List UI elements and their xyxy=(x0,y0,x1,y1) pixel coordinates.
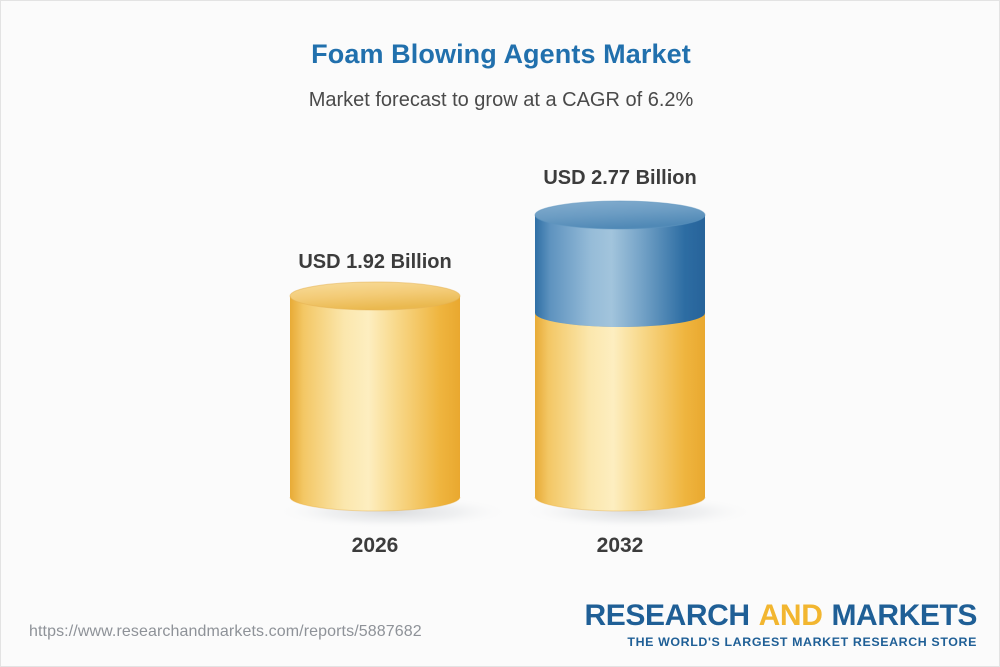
logo-word-markets: MARKETS xyxy=(831,599,977,632)
bar-2032-growth-body xyxy=(535,215,705,327)
report-url[interactable]: https://www.researchandmarkets.com/repor… xyxy=(29,623,422,641)
chart-plot-area: USD 1.92 Billion USD 2.77 Billion 2026 2… xyxy=(1,1,1000,601)
bar-2032-base-body xyxy=(535,313,705,511)
bar-2032-value-label: USD 2.77 Billion xyxy=(450,167,790,190)
bar-2026[interactable] xyxy=(290,282,460,511)
x-axis-label-2026: 2026 xyxy=(290,534,460,558)
logo-word-research: RESEARCH xyxy=(585,599,750,632)
x-axis-label-2032: 2032 xyxy=(535,534,705,558)
bar-2032[interactable] xyxy=(535,201,705,511)
cylinder-bar-chart-svg xyxy=(1,1,1000,601)
chart-canvas: Foam Blowing Agents Market Market foreca… xyxy=(0,0,1000,667)
logo-wordmark: RESEARCHANDMARKETS xyxy=(585,601,977,631)
bar-2026-value-label: USD 1.92 Billion xyxy=(205,251,545,274)
logo-word-and: AND xyxy=(759,599,823,632)
logo-tagline: THE WORLD'S LARGEST MARKET RESEARCH STOR… xyxy=(585,636,977,648)
bar-2026-body xyxy=(290,296,460,511)
research-and-markets-logo[interactable]: RESEARCHANDMARKETS THE WORLD'S LARGEST M… xyxy=(585,601,977,648)
